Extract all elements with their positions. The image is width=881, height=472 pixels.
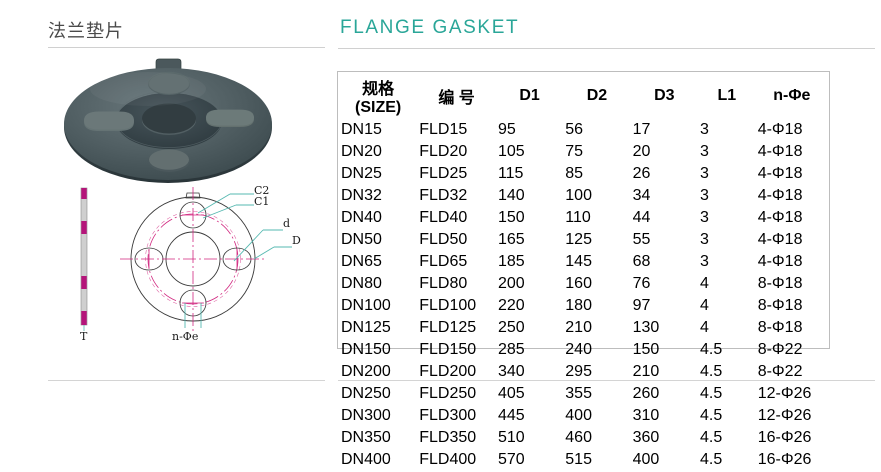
table-cell: DN400 bbox=[340, 450, 416, 470]
page-title-english: FLANGE GASKET bbox=[340, 17, 519, 39]
table-cell: 75 bbox=[564, 142, 629, 162]
table-cell: 4-Φ18 bbox=[757, 208, 827, 228]
table-cell: 115 bbox=[497, 164, 562, 184]
table-cell: 130 bbox=[632, 318, 697, 338]
table-cell: DN25 bbox=[340, 164, 416, 184]
table-cell: 340 bbox=[497, 362, 562, 382]
table-cell: 185 bbox=[497, 252, 562, 272]
table-cell: 20 bbox=[632, 142, 697, 162]
title-divider-right bbox=[338, 48, 875, 49]
table-cell: 8-Φ22 bbox=[757, 340, 827, 360]
table-cell: 3 bbox=[699, 230, 755, 250]
label-n-phi-e: n-Φe bbox=[172, 330, 198, 343]
col-header-d1: D1 bbox=[497, 74, 562, 118]
table-cell: 515 bbox=[564, 450, 629, 470]
table-cell: DN100 bbox=[340, 296, 416, 316]
col-header-d2: D2 bbox=[564, 74, 629, 118]
table-cell: DN300 bbox=[340, 406, 416, 426]
table-cell: DN250 bbox=[340, 384, 416, 404]
table-cell: 16-Φ26 bbox=[757, 450, 827, 470]
table-cell: 4 bbox=[699, 318, 755, 338]
table-row: DN40FLD401501104434-Φ18 bbox=[340, 208, 827, 228]
table-cell: 310 bbox=[632, 406, 697, 426]
table-cell: 510 bbox=[497, 428, 562, 448]
table-cell: 34 bbox=[632, 186, 697, 206]
table-cell: 3 bbox=[699, 164, 755, 184]
table-cell: 360 bbox=[632, 428, 697, 448]
table-cell: 460 bbox=[564, 428, 629, 448]
table-cell: 180 bbox=[564, 296, 629, 316]
table-cell: 160 bbox=[564, 274, 629, 294]
table-cell: 85 bbox=[564, 164, 629, 184]
table-cell: FLD100 bbox=[418, 296, 495, 316]
label-c1: C1 bbox=[254, 195, 269, 208]
table-cell: FLD250 bbox=[418, 384, 495, 404]
table-cell: DN350 bbox=[340, 428, 416, 448]
table-cell: 150 bbox=[497, 208, 562, 228]
footer-divider-right bbox=[338, 380, 875, 381]
table-cell: 400 bbox=[632, 450, 697, 470]
table-cell: 4-Φ18 bbox=[757, 164, 827, 184]
table-cell: 12-Φ26 bbox=[757, 406, 827, 426]
table-cell: 4-Φ18 bbox=[757, 186, 827, 206]
table-cell: 200 bbox=[497, 274, 562, 294]
table-row: DN80FLD802001607648-Φ18 bbox=[340, 274, 827, 294]
table-cell: FLD65 bbox=[418, 252, 495, 272]
table-cell: 8-Φ18 bbox=[757, 274, 827, 294]
page-title-chinese: 法兰垫片 bbox=[48, 17, 124, 43]
table-cell: 16-Φ26 bbox=[757, 428, 827, 448]
table-cell: 145 bbox=[564, 252, 629, 272]
table-cell: 100 bbox=[564, 186, 629, 206]
table-cell: DN65 bbox=[340, 252, 416, 272]
table-row: DN150FLD1502852401504.58-Φ22 bbox=[340, 340, 827, 360]
table-cell: FLD25 bbox=[418, 164, 495, 184]
table-cell: FLD150 bbox=[418, 340, 495, 360]
table-row: DN350FLD3505104603604.516-Φ26 bbox=[340, 428, 827, 448]
table-row: DN25FLD25115852634-Φ18 bbox=[340, 164, 827, 184]
col-header-model: 编 号 bbox=[418, 74, 495, 118]
table-cell: DN125 bbox=[340, 318, 416, 338]
table-cell: 445 bbox=[497, 406, 562, 426]
table-cell: 3 bbox=[699, 208, 755, 228]
table-cell: 4-Φ18 bbox=[757, 120, 827, 140]
table-cell: 260 bbox=[632, 384, 697, 404]
table-cell: 4-Φ18 bbox=[757, 142, 827, 162]
table-cell: 140 bbox=[497, 186, 562, 206]
table-cell: 4.5 bbox=[699, 340, 755, 360]
table-cell: 3 bbox=[699, 142, 755, 162]
table-row: DN200FLD2003402952104.58-Φ22 bbox=[340, 362, 827, 382]
table-cell: DN50 bbox=[340, 230, 416, 250]
table-cell: 285 bbox=[497, 340, 562, 360]
table-cell: 26 bbox=[632, 164, 697, 184]
table-row: DN65FLD651851456834-Φ18 bbox=[340, 252, 827, 272]
table-row: DN20FLD20105752034-Φ18 bbox=[340, 142, 827, 162]
table-cell: 105 bbox=[497, 142, 562, 162]
plan-view bbox=[120, 187, 292, 331]
table-cell: 44 bbox=[632, 208, 697, 228]
table-cell: 3 bbox=[699, 186, 755, 206]
table-cell: 150 bbox=[632, 340, 697, 360]
table-row: DN50FLD501651255534-Φ18 bbox=[340, 230, 827, 250]
table-cell: 4-Φ18 bbox=[757, 252, 827, 272]
label-t: T bbox=[80, 330, 88, 343]
table-cell: 4.5 bbox=[699, 362, 755, 382]
table-cell: FLD400 bbox=[418, 450, 495, 470]
table-cell: 8-Φ18 bbox=[757, 296, 827, 316]
table-cell: 210 bbox=[564, 318, 629, 338]
table-cell: FLD20 bbox=[418, 142, 495, 162]
table-cell: 125 bbox=[564, 230, 629, 250]
label-d-small: d bbox=[283, 217, 290, 230]
technical-drawing: T bbox=[58, 183, 308, 343]
table-cell: DN15 bbox=[340, 120, 416, 140]
table-cell: 68 bbox=[632, 252, 697, 272]
table-cell: FLD300 bbox=[418, 406, 495, 426]
col-header-size: 规格(SIZE) bbox=[340, 74, 416, 118]
spec-table-container: 规格(SIZE) 编 号 D1 D2 D3 L1 n-Φe DN15FLD159… bbox=[337, 71, 830, 349]
table-cell: 4.5 bbox=[699, 406, 755, 426]
table-cell: FLD350 bbox=[418, 428, 495, 448]
table-cell: 4.5 bbox=[699, 384, 755, 404]
table-cell: FLD15 bbox=[418, 120, 495, 140]
table-cell: FLD40 bbox=[418, 208, 495, 228]
col-header-l1: L1 bbox=[699, 74, 755, 118]
catalog-page: 法兰垫片 bbox=[0, 0, 881, 402]
table-cell: 76 bbox=[632, 274, 697, 294]
table-cell: 165 bbox=[497, 230, 562, 250]
col-header-d3: D3 bbox=[632, 74, 697, 118]
table-row: DN125FLD12525021013048-Φ18 bbox=[340, 318, 827, 338]
table-cell: 3 bbox=[699, 252, 755, 272]
table-cell: 4.5 bbox=[699, 450, 755, 470]
table-cell: DN200 bbox=[340, 362, 416, 382]
table-cell: FLD80 bbox=[418, 274, 495, 294]
table-cell: 405 bbox=[497, 384, 562, 404]
table-cell: 8-Φ22 bbox=[757, 362, 827, 382]
table-cell: 56 bbox=[564, 120, 629, 140]
table-cell: 570 bbox=[497, 450, 562, 470]
table-cell: DN150 bbox=[340, 340, 416, 360]
table-cell: 220 bbox=[497, 296, 562, 316]
table-cell: 97 bbox=[632, 296, 697, 316]
table-cell: 8-Φ18 bbox=[757, 318, 827, 338]
table-cell: 4-Φ18 bbox=[757, 230, 827, 250]
table-cell: 4 bbox=[699, 274, 755, 294]
right-column: FLANGE GASKET 规格(SIZE) 编 号 D1 D2 D3 L1 bbox=[330, 0, 881, 402]
footer-divider-left bbox=[48, 380, 325, 381]
section-view-bar bbox=[81, 188, 87, 325]
table-row: DN250FLD2504053552604.512-Φ26 bbox=[340, 384, 827, 404]
table-cell: 110 bbox=[564, 208, 629, 228]
title-divider-left bbox=[48, 47, 325, 48]
left-column: 法兰垫片 bbox=[0, 0, 330, 402]
table-cell: 400 bbox=[564, 406, 629, 426]
table-row: DN15FLD1595561734-Φ18 bbox=[340, 120, 827, 140]
table-body: DN15FLD1595561734-Φ18DN20FLD20105752034-… bbox=[340, 120, 827, 470]
table-header-row: 规格(SIZE) 编 号 D1 D2 D3 L1 n-Φe bbox=[340, 74, 827, 118]
table-cell: 250 bbox=[497, 318, 562, 338]
table-cell: 17 bbox=[632, 120, 697, 140]
table-row: DN32FLD321401003434-Φ18 bbox=[340, 186, 827, 206]
table-cell: 4 bbox=[699, 296, 755, 316]
table-cell: 55 bbox=[632, 230, 697, 250]
table-cell: DN20 bbox=[340, 142, 416, 162]
table-cell: 3 bbox=[699, 120, 755, 140]
table-cell: 4.5 bbox=[699, 428, 755, 448]
table-row: DN400FLD4005705154004.516-Φ26 bbox=[340, 450, 827, 470]
table-row: DN300FLD3004454003104.512-Φ26 bbox=[340, 406, 827, 426]
table-cell: 210 bbox=[632, 362, 697, 382]
table-cell: 295 bbox=[564, 362, 629, 382]
table-cell: 355 bbox=[564, 384, 629, 404]
table-cell: FLD200 bbox=[418, 362, 495, 382]
product-photo bbox=[38, 57, 298, 192]
table-cell: FLD125 bbox=[418, 318, 495, 338]
spec-table: 规格(SIZE) 编 号 D1 D2 D3 L1 n-Φe DN15FLD159… bbox=[338, 72, 829, 472]
table-cell: FLD50 bbox=[418, 230, 495, 250]
table-row: DN100FLD1002201809748-Φ18 bbox=[340, 296, 827, 316]
table-cell: FLD32 bbox=[418, 186, 495, 206]
col-header-holes: n-Φe bbox=[757, 74, 827, 118]
table-cell: 95 bbox=[497, 120, 562, 140]
table-cell: 12-Φ26 bbox=[757, 384, 827, 404]
label-d-large: D bbox=[292, 234, 301, 247]
table-cell: DN80 bbox=[340, 274, 416, 294]
table-cell: 240 bbox=[564, 340, 629, 360]
table-cell: DN32 bbox=[340, 186, 416, 206]
table-cell: DN40 bbox=[340, 208, 416, 228]
